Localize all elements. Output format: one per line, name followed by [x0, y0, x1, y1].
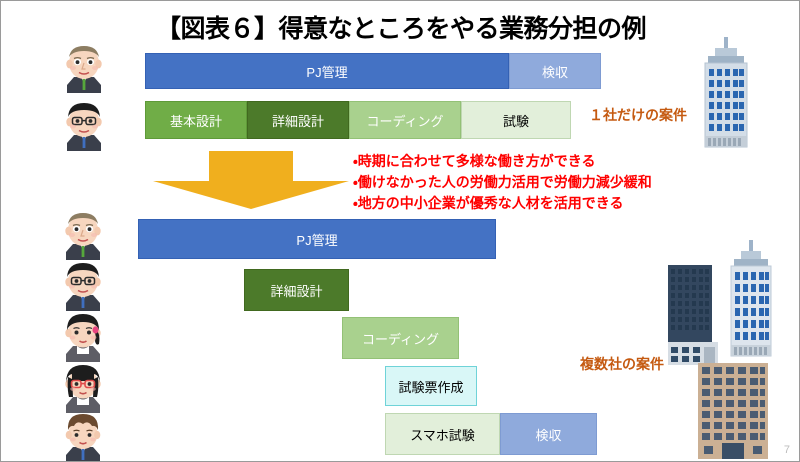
- top-phases-bar: 基本設計 詳細設計 コーディング 試験: [145, 101, 571, 139]
- bar-segment-basic-design: 基本設計: [145, 101, 247, 139]
- page-number: 7: [784, 444, 790, 456]
- bar-segment-inspection-bottom: 検収: [500, 413, 597, 455]
- building-dark-blue-tower: [668, 265, 718, 365]
- benefit-bullet-1: ・時期に合わせて多様な働き方ができる: [353, 151, 652, 172]
- avatar-man-glasses-black-hair-2: [56, 257, 110, 311]
- label-multi-company-project: 複数社の案件: [580, 354, 664, 374]
- label-single-company-project: １社だけの案件: [589, 105, 687, 125]
- bottom-bar-coding: コーディング: [342, 317, 459, 359]
- avatar-woman-red-glasses: [56, 359, 110, 413]
- avatar-young-person-brown-hair: [56, 409, 110, 462]
- bottom-bar-test-case-creation: 試験票作成: [385, 366, 477, 406]
- top-management-bar: PJ管理 検収: [145, 53, 601, 89]
- bar-segment-testing-top: 試験: [461, 101, 571, 139]
- avatar-woman-ponytail: [56, 308, 110, 362]
- bar-segment-detailed-design-top: 詳細設計: [247, 101, 349, 139]
- bottom-bar-detailed-design: 詳細設計: [244, 269, 349, 311]
- avatar-man-glasses-black-hair: [57, 97, 111, 151]
- building-tan-midrise: [698, 363, 768, 459]
- page-title: 【図表６】得意なところをやる業務分担の例: [1, 9, 800, 45]
- building-light-blue-tower: [723, 240, 779, 367]
- bottom-bar-smartphone-test-and-inspection: スマホ試験 検収: [385, 413, 597, 455]
- benefit-bullet-2: ・働けなかった人の労働力活用で労働力減少緩和: [353, 172, 652, 193]
- bar-segment-inspection-top: 検収: [509, 53, 601, 89]
- avatar-man-gray-hair-2: [56, 206, 110, 260]
- bar-segment-smartphone-test: スマホ試験: [385, 413, 500, 455]
- avatar-man-gray-hair: [57, 39, 111, 93]
- benefit-bullet-3: ・地方の中小企業が優秀な人材を活用できる: [353, 193, 652, 214]
- building-tall-blue-tower: [693, 37, 759, 155]
- bar-segment-pj-management-top: PJ管理: [145, 53, 509, 89]
- down-arrow-icon: [151, 149, 351, 211]
- benefits-list: ・時期に合わせて多様な働き方ができる ・働けなかった人の労働力活用で労働力減少緩…: [353, 151, 652, 214]
- bottom-bar-pj-management: PJ管理: [138, 219, 496, 259]
- slide-canvas: 【図表６】得意なところをやる業務分担の例: [0, 0, 800, 462]
- bar-segment-coding-top: コーディング: [349, 101, 461, 139]
